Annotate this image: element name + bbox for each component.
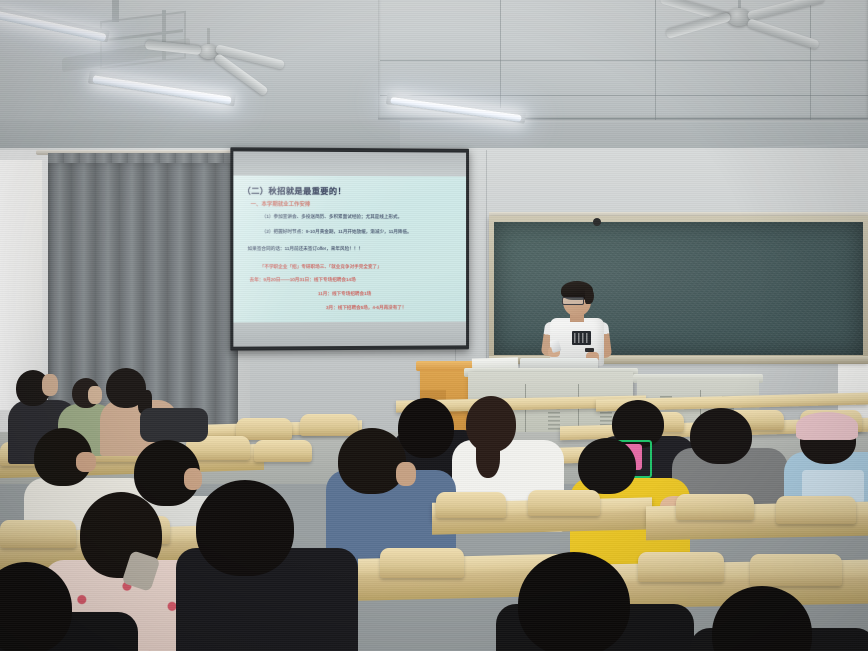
seat-back[interactable] bbox=[300, 414, 358, 436]
student-head bbox=[518, 552, 630, 651]
seat-back[interactable] bbox=[676, 494, 754, 520]
student-head bbox=[196, 480, 294, 576]
projection-screen: （二）秋招就是最重要的！ 一、本学期就业工作安排 （1）参加宣讲会、多投送简历、… bbox=[230, 147, 469, 350]
screen-band-bottom bbox=[233, 322, 466, 347]
seat-back[interactable] bbox=[436, 492, 506, 518]
student-head bbox=[398, 398, 454, 458]
student-head bbox=[578, 438, 636, 494]
slide-red-line: 去年：9月20日——10月31日：线下专场招聘会14场 bbox=[250, 277, 356, 283]
slide-note: 如果签合同的话：11月前还未签订offer，来年风险！！！ bbox=[248, 246, 363, 252]
slide-bullet: （1）参加宣讲会、多投送简历、多积累面试经验；尤其是线上形式。 bbox=[262, 214, 402, 220]
slide-heading: 一、本学期就业工作安排 bbox=[251, 200, 311, 208]
slide-red-line: 3月：线下招聘会5场，4-6月再没有了！ bbox=[326, 305, 406, 311]
student-head bbox=[338, 428, 406, 494]
student-face bbox=[76, 452, 96, 472]
presenter-hair-side bbox=[585, 288, 594, 304]
projector-mount-pole bbox=[112, 0, 119, 22]
ceiling-panel-seam bbox=[520, 118, 868, 119]
screen-band-top bbox=[233, 151, 466, 176]
projection-screen-surface: （二）秋招就是最重要的！ 一、本学期就业工作安排 （1）参加宣讲会、多投送简历、… bbox=[233, 151, 466, 346]
seat-back[interactable] bbox=[380, 548, 464, 578]
slide-content: （二）秋招就是最重要的！ 一、本学期就业工作安排 （1）参加宣讲会、多投送简历、… bbox=[233, 176, 466, 323]
seat-back[interactable] bbox=[776, 496, 856, 524]
blackboard-magnet bbox=[593, 218, 601, 226]
glasses-icon bbox=[562, 297, 584, 305]
slide-bullet: （2）把握好时节点：9-10月黄金期，11月开始放缓，渐减少，11月降低。 bbox=[262, 229, 412, 235]
student-hand bbox=[396, 462, 416, 486]
student-face bbox=[184, 468, 202, 490]
curtain-header-pleats bbox=[48, 153, 238, 163]
classroom-photo: （二）秋招就是最重要的！ 一、本学期就业工作安排 （1）参加宣讲会、多投送简历、… bbox=[0, 0, 868, 651]
ceiling-panel-seam bbox=[380, 60, 868, 61]
slide-red-line: 「不学职企业「招」专研职场三、「就业竞争对手完全变了」 bbox=[260, 264, 382, 270]
student-bag-on-desk bbox=[140, 408, 208, 442]
student-ponytail bbox=[476, 436, 500, 478]
student-face bbox=[42, 374, 58, 396]
wristwatch-icon bbox=[585, 348, 594, 352]
ceiling-panel-seam bbox=[380, 95, 868, 96]
presenter-shirt-logo-detail bbox=[574, 333, 589, 343]
cap-icon bbox=[796, 412, 858, 440]
seat-back[interactable] bbox=[638, 552, 724, 582]
seat-back[interactable] bbox=[0, 520, 76, 548]
student-face bbox=[88, 386, 102, 404]
seat-back[interactable] bbox=[528, 490, 600, 516]
slide-red-line: 11月：线下专场招聘会1场 bbox=[318, 291, 371, 297]
seat-back[interactable] bbox=[254, 440, 312, 462]
student-head bbox=[690, 408, 752, 464]
seat-back[interactable] bbox=[750, 554, 842, 586]
slide-title: （二）秋招就是最重要的！ bbox=[242, 185, 346, 197]
